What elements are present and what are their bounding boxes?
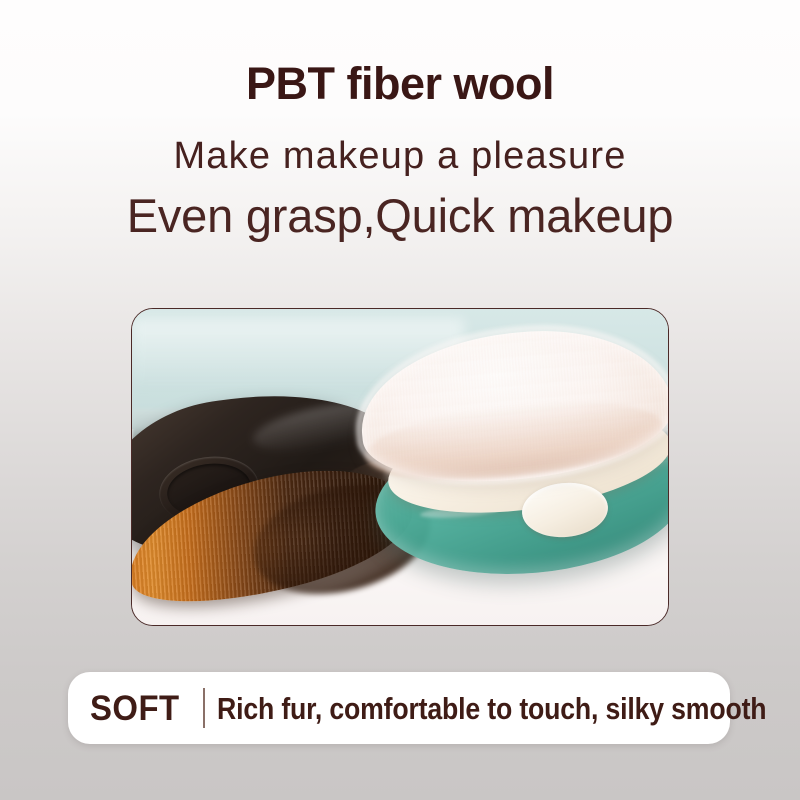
banner-divider: [203, 688, 205, 728]
feature-banner: SOFT Rich fur, comfortable to touch, sil…: [68, 672, 730, 744]
headline-block: PBT fiber wool Make makeup a pleasure Ev…: [0, 0, 800, 240]
product-photo: [131, 308, 669, 626]
subtitle-secondary: Even grasp,Quick makeup: [0, 177, 800, 240]
product-poster: PBT fiber wool Make makeup a pleasure Ev…: [0, 0, 800, 800]
feature-description: Rich fur, comfortable to touch, silky sm…: [217, 693, 766, 724]
page-title: PBT fiber wool: [0, 0, 800, 108]
feature-tag: SOFT: [90, 691, 180, 726]
subtitle-primary: Make makeup a pleasure: [0, 108, 800, 177]
